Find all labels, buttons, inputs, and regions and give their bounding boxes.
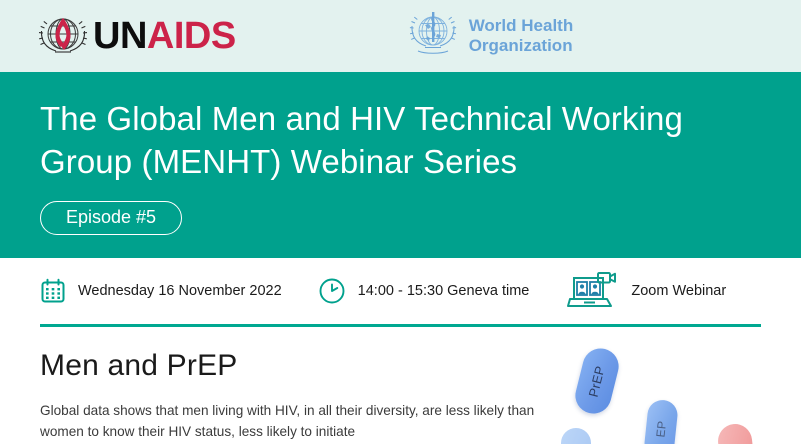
event-date: Wednesday 16 November 2022 xyxy=(40,278,282,304)
pill-prep-small: EP xyxy=(643,399,679,444)
event-platform: Zoom Webinar xyxy=(567,272,726,310)
who-rod-of-asclepius-globe-emblem xyxy=(406,10,460,62)
event-date-text: Wednesday 16 November 2022 xyxy=(78,283,282,299)
unaids-ribbon-globe-emblem xyxy=(34,13,92,59)
video-webinar-icon xyxy=(567,272,617,310)
pill-pink xyxy=(716,422,755,444)
event-time: 14:00 - 15:30 Geneva time xyxy=(318,277,530,305)
who-wordmark: World Health Organization xyxy=(469,16,574,55)
topic-section: Men and PrEP Global data shows that men … xyxy=(0,327,801,440)
who-logo: World Health Organization xyxy=(406,10,574,62)
event-platform-text: Zoom Webinar xyxy=(631,283,726,299)
webinar-flyer: UNAIDS xyxy=(0,0,801,444)
event-time-text: 14:00 - 15:30 Geneva time xyxy=(358,283,530,299)
pill-faint-blue xyxy=(561,428,591,444)
topic-body-text: Global data shows that men living with H… xyxy=(40,401,540,442)
unaids-word-un: UN xyxy=(93,15,147,57)
logo-band: UNAIDS xyxy=(0,0,801,72)
title-banner: The Global Men and HIV Technical Working… xyxy=(0,72,801,258)
who-wordmark-line2: Organization xyxy=(469,36,574,56)
unaids-logo: UNAIDS xyxy=(34,13,236,59)
unaids-wordmark: UNAIDS xyxy=(93,17,236,55)
clock-icon xyxy=(318,277,346,305)
topic-title: Men and PrEP xyxy=(40,349,761,382)
calendar-icon xyxy=(40,278,66,304)
unaids-word-aids: AIDS xyxy=(147,15,236,57)
episode-badge: Episode #5 xyxy=(40,201,182,235)
webinar-title: The Global Men and HIV Technical Working… xyxy=(40,98,761,184)
who-wordmark-line1: World Health xyxy=(469,16,574,36)
pill-prep-small-label: EP xyxy=(653,420,669,438)
event-info-bar: Wednesday 16 November 2022 14:00 - 15:30… xyxy=(0,258,801,324)
